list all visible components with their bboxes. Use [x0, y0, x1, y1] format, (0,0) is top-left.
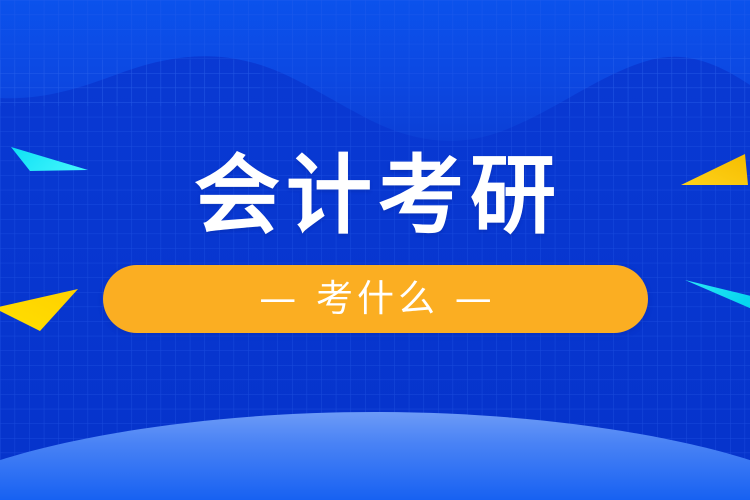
page-title: 会计考研 [188, 148, 562, 244]
headline-block: 会计考研 [0, 148, 750, 244]
grid-accent-left [0, 60, 260, 106]
banner-container: 会计考研 — 考什么 — [0, 0, 750, 500]
subtitle-badge-label: — 考什么 — [255, 279, 496, 319]
subtitle-badge: — 考什么 — [103, 265, 648, 333]
background-graphics [0, 0, 750, 500]
grid-accent-right [560, 56, 750, 116]
